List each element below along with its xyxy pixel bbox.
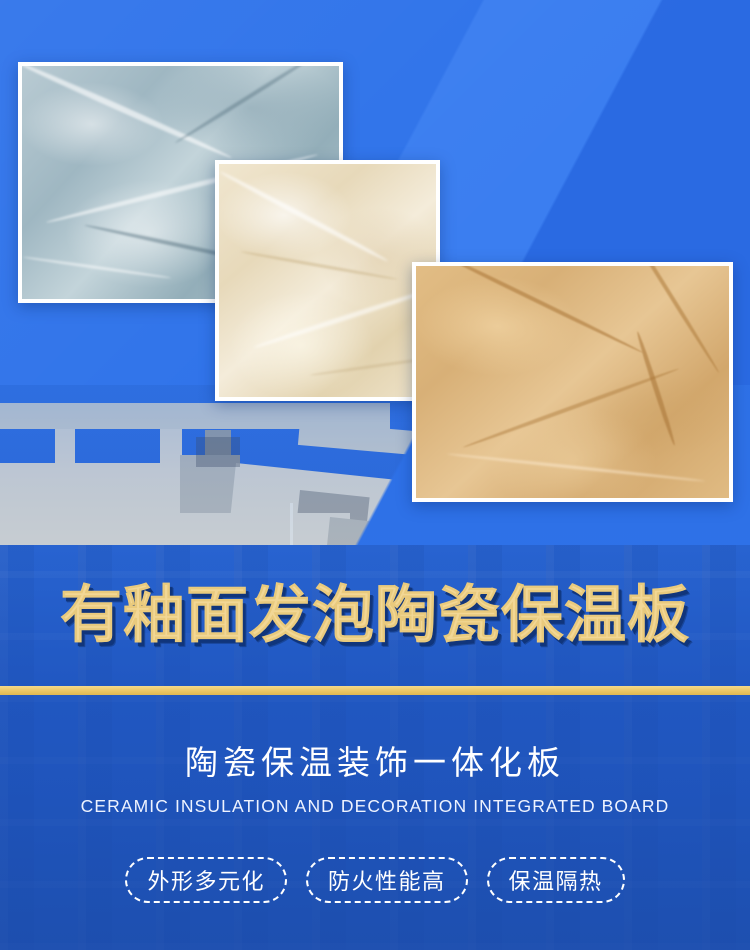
feature-pill-2[interactable]: 防火性能高 bbox=[306, 857, 468, 903]
feature-pill-1[interactable]: 外形多元化 bbox=[125, 857, 287, 903]
product-banner-poster: 有釉面发泡陶瓷保温板 陶瓷保温装饰一体化板 CERAMIC INSULATION… bbox=[0, 0, 750, 950]
feature-pill-list: 外形多元化 防火性能高 保温隔热 bbox=[0, 857, 750, 903]
tile-sample-3[interactable] bbox=[412, 262, 733, 502]
gold-divider bbox=[0, 686, 750, 695]
marble-veining-2 bbox=[219, 164, 436, 397]
subtitle-english: CERAMIC INSULATION AND DECORATION INTEGR… bbox=[0, 798, 750, 816]
feature-pill-3[interactable]: 保温隔热 bbox=[487, 857, 625, 903]
marble-veining-3 bbox=[416, 266, 729, 498]
subtitle-chinese: 陶瓷保温装饰一体化板 bbox=[0, 746, 750, 779]
tile-sample-2[interactable] bbox=[215, 160, 440, 401]
page-title: 有釉面发泡陶瓷保温板 bbox=[0, 585, 750, 647]
